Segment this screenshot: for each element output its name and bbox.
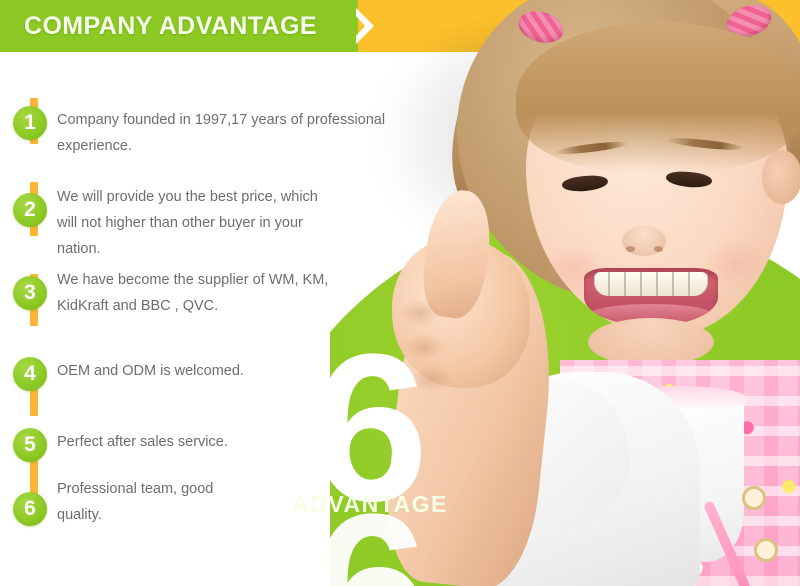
grommet [742, 486, 766, 510]
grommet [754, 538, 778, 562]
item-badge: 4 [13, 357, 47, 391]
item-text: Professional team, good quality. [57, 476, 247, 528]
item-text: Perfect after sales service. [57, 429, 357, 455]
item-badge: 6 [13, 492, 47, 526]
item-text: OEM and ODM is welcomed. [57, 358, 357, 384]
ear [762, 150, 800, 204]
chin [588, 318, 714, 366]
advantage-banner: 6 ADVANTAGE 6 COMPANY ADVANTAGE 1 Compan… [0, 0, 800, 586]
item-badge: 1 [13, 106, 47, 140]
chevron-right-icon [352, 0, 392, 52]
item-badge: 5 [13, 428, 47, 462]
page-title: COMPANY ADVANTAGE [24, 12, 317, 41]
item-text: We have become the supplier of WM, KM, K… [57, 267, 347, 319]
item-badge: 3 [13, 276, 47, 310]
advantage-list: 1 Company founded in 1997,17 years of pr… [0, 52, 440, 586]
teeth [594, 272, 708, 296]
item-text: We will provide you the best price, whic… [57, 184, 337, 262]
nostril-left [626, 246, 635, 252]
nostril-right [654, 246, 663, 252]
item-badge: 2 [13, 193, 47, 227]
item-text: Company founded in 1997,17 years of prof… [57, 107, 412, 159]
